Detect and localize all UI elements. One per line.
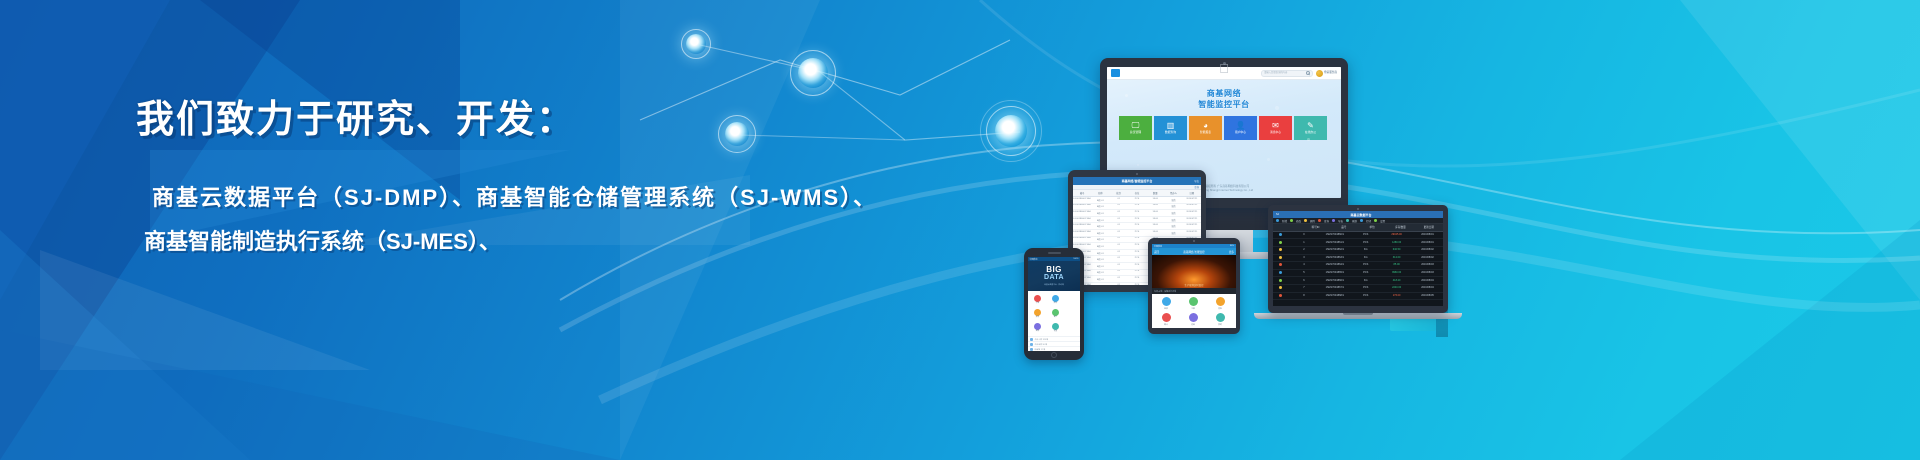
table-cell: 640.50 <box>1381 247 1412 254</box>
app-tile-data-query[interactable]: ▥ 数据查询 <box>1154 116 1187 140</box>
table-row[interactable]: 41SM17004864/1PCS85.002016/08/03 <box>1273 262 1443 270</box>
tablet-small-icon-grid: 监控工单质检统计设备我的 <box>1152 294 1236 328</box>
status-dot-icon <box>1273 285 1288 292</box>
bullet-icon <box>1030 343 1033 346</box>
network-node <box>686 34 706 54</box>
table-cell: 1 <box>1288 239 1319 246</box>
table-cell: PCS <box>1128 210 1146 216</box>
bar-chart-icon: ▥ <box>1167 122 1175 130</box>
status-dot-icon <box>1273 270 1288 277</box>
phone-grid-item[interactable]: 报表 <box>1029 307 1046 320</box>
app-title-line2: 智能监控平台 <box>1117 99 1331 111</box>
table-cell: 01 <box>1110 217 1128 223</box>
table-row[interactable]: 31SM17004863/1KG312.002016/08/02 <box>1273 255 1443 263</box>
phone-mockup: 中国移动 100% BIG DATA 商基云数据平台 · 移动端 订单库存报表客… <box>1024 248 1084 360</box>
table-cell: 01 <box>1110 210 1128 216</box>
table-cell: 2016/07/21 <box>1183 197 1201 203</box>
table-cell: 张伟 <box>1164 223 1182 229</box>
table-cell: 2016/07/21 <box>1183 210 1201 216</box>
table-cell: PCS <box>1128 204 1146 210</box>
toolbar-label[interactable]: 导出 <box>1338 219 1343 223</box>
app-label: 报表 <box>1036 316 1039 318</box>
table-cell: 01 <box>1110 223 1128 229</box>
table-cell: 1SM17004867/1 <box>1319 285 1350 292</box>
account-badge[interactable]: 尊荣服务商 <box>1316 70 1337 77</box>
table-row[interactable]: SJ-00186001 WH01A区-0101PCS18.00张伟2016/07… <box>1073 197 1201 204</box>
table-cell: 2016/07/21 <box>1183 223 1201 229</box>
table-cell: A区-01 <box>1091 197 1109 203</box>
phone-bezel: 中国移动 100% BIG DATA 商基云数据平台 · 移动端 订单库存报表客… <box>1024 248 1084 360</box>
laptop-table-header: 料号ID 品号 单位 库存数量 更新日期 <box>1273 224 1443 232</box>
app-label: 设置 <box>1054 330 1057 332</box>
hero-banner: 我们致力于研究、开发： 商基云数据平台（SJ-DMP）、商基智能仓储管理系统（S… <box>0 0 1920 460</box>
app-label: 订单 <box>1036 302 1039 304</box>
table-cell: 张伟 <box>1164 230 1182 236</box>
table-cell: PCS <box>1350 293 1381 300</box>
network-node-ring <box>790 50 836 96</box>
table-cell: 01 <box>1110 197 1128 203</box>
table-row[interactable]: SJ-00186001 WH01A区-0101PCS18.00张伟2016/07… <box>1073 204 1201 211</box>
table-row[interactable]: 71SM17004867/1PCS2240.002016/08/04 <box>1273 285 1443 293</box>
hero-caption: 商基云数据平台 · 移动端 <box>1044 283 1064 286</box>
app-label: 设备 <box>1191 323 1195 326</box>
column-header: 品号 <box>1330 224 1358 231</box>
column-header: 编号 <box>1073 190 1091 196</box>
table-cell: A区-01 <box>1091 210 1109 216</box>
table-cell: 01 <box>1110 243 1128 249</box>
app-label: 统计 <box>1164 323 1168 326</box>
column-header: 数量 <box>1146 190 1164 196</box>
table-cell: 176.00 <box>1381 293 1412 300</box>
app-tile-online-office[interactable]: ✎ 在线办公 <box>1294 116 1327 140</box>
table-cell: 2016/07/21 <box>1183 230 1201 236</box>
table-cell: 18.00 <box>1146 230 1164 236</box>
table-cell: PCS <box>1128 230 1146 236</box>
table-cell: 85.00 <box>1381 262 1412 269</box>
table-cell: 1SM17004865/1 <box>1319 270 1350 277</box>
app-icon <box>1162 313 1171 322</box>
phone-grid-item[interactable]: 库存 <box>1047 293 1064 306</box>
table-cell: 1SM17004866/1 <box>1319 277 1350 284</box>
tablet-app-header: 商基网络 智能监控平台 导出 <box>1073 177 1201 185</box>
network-node <box>798 58 828 88</box>
background-facet <box>0 230 250 460</box>
phone-grid-item[interactable]: 采购 <box>1029 321 1046 334</box>
table-cell: 01 <box>1110 263 1128 269</box>
column-header: 单位 <box>1358 224 1386 231</box>
table-cell: 张伟 <box>1164 204 1182 210</box>
table-cell: 8 <box>1288 293 1319 300</box>
toolbar-label[interactable]: 刷新 <box>1352 219 1357 223</box>
table-row[interactable]: SJ-00186001 WH01A区-0101PCS18.00张伟2016/07… <box>1073 223 1201 230</box>
table-cell: 2016/08/02 <box>1412 255 1443 262</box>
toolbar-icon[interactable] <box>1276 219 1279 222</box>
table-cell: 张伟 <box>1164 217 1182 223</box>
phone-grid-item[interactable]: 客户 <box>1047 307 1064 320</box>
battery-label: 86% <box>1230 245 1234 247</box>
table-cell: A区-01 <box>1091 230 1109 236</box>
table-cell: SJ-00186001 WH01 <box>1073 217 1091 223</box>
table-cell: 9960.00 <box>1381 270 1412 277</box>
background-facet <box>1680 0 1920 300</box>
tablet-small-mockup: 中国移动 86% 返回 商基网络 智能监控 更多 生产现场实时监控 车间 A 线… <box>1148 238 1240 334</box>
table-row[interactable]: SJ-00186001 WH01A区-0101PCS18.00张伟2016/07… <box>1073 210 1201 217</box>
table-cell: PCS <box>1128 283 1146 285</box>
table-cell: PCS <box>1350 232 1381 239</box>
sub-caption: 车间 A 线 · 设备运行正常 <box>1154 290 1176 293</box>
sj-logo-icon <box>1111 69 1120 77</box>
table-cell: 312.00 <box>1381 255 1412 262</box>
device-mockup-cluster: 请输入您想查询的内容 尊荣服务商 <box>1010 40 1480 360</box>
status-dot-icon <box>1273 277 1288 284</box>
background-facet <box>1620 220 1920 460</box>
table-cell: PCS <box>1128 263 1146 269</box>
table-cell: PCS <box>1128 243 1146 249</box>
app-tile-total-management[interactable]: 🖵 总览管理 <box>1119 116 1152 140</box>
laptop-table-body: 01SM17004860/1PCS29025.002016/08/0111SM1… <box>1273 232 1443 300</box>
phone-grid-item[interactable]: 设置 <box>1047 321 1064 334</box>
app-header-right: 请输入您想查询的内容 尊荣服务商 <box>1261 70 1337 77</box>
mail-icon: ✉ <box>1272 122 1279 130</box>
table-cell: PCS <box>1128 270 1146 276</box>
laptop-notch <box>1343 313 1373 315</box>
table-cell: 01 <box>1110 250 1128 256</box>
app-icon <box>1034 323 1041 330</box>
table-cell: KG <box>1350 277 1381 284</box>
table-cell: PCS <box>1350 262 1381 269</box>
app-tile-user-center[interactable]: 👤 用户中心 <box>1224 116 1257 140</box>
table-cell: 18.00 <box>1146 204 1164 210</box>
edit-icon: ✎ <box>1307 122 1314 130</box>
product-line-1: 商基云数据平台（SJ-DMP）、商基智能仓储管理系统（SJ-WMS）、 <box>140 176 877 220</box>
table-cell: 418.20 <box>1381 277 1412 284</box>
laptop-base <box>1254 313 1462 319</box>
app-icon <box>1034 309 1041 316</box>
table-cell: SJ-00186001 WH01 <box>1073 197 1091 203</box>
background-facet <box>0 330 620 460</box>
tablet-grid-item[interactable]: 质检 <box>1207 296 1233 311</box>
tablet-grid-item[interactable]: 工单 <box>1180 296 1206 311</box>
network-node-ring <box>681 29 711 59</box>
table-cell: 2016/08/01 <box>1412 232 1443 239</box>
app-icon <box>1216 313 1225 322</box>
table-row[interactable]: 61SM17004866/1KG418.202016/08/04 <box>1273 277 1443 285</box>
laptop-app-title: 商基云数据平台 <box>1279 213 1443 217</box>
table-cell: A区-01 <box>1091 204 1109 210</box>
toolbar-icon[interactable] <box>1374 219 1377 222</box>
app-label: 工单 <box>1191 307 1195 310</box>
camera-icon <box>1136 173 1138 175</box>
table-cell: 2016/08/05 <box>1412 293 1443 300</box>
table-row[interactable]: 11SM17004861/1PCS1280.002016/08/01 <box>1273 239 1443 247</box>
column-header: 日期 <box>1183 190 1201 196</box>
table-cell: PCS <box>1350 239 1381 246</box>
table-cell: KG <box>1350 247 1381 254</box>
table-cell: 张伟 <box>1164 197 1182 203</box>
table-row[interactable]: 81SM17004868/1PCS176.002016/08/05 <box>1273 293 1443 301</box>
tablet-grid-item[interactable]: 监控 <box>1153 296 1179 311</box>
camera-icon <box>1193 240 1195 242</box>
list-item-label: 今日出库 96 单 <box>1035 343 1048 346</box>
table-cell: 2016/08/01 <box>1412 239 1443 246</box>
tile-label: 数据查询 <box>1165 131 1176 134</box>
table-cell: 张伟 <box>1164 210 1182 216</box>
toolbar-label[interactable]: 打印 <box>1366 219 1371 223</box>
tablet-app-title: 商基网络 智能监控平台 <box>1122 179 1153 183</box>
speaker-icon <box>1048 252 1061 254</box>
column-header: 批次 <box>1110 190 1128 196</box>
table-cell: 01 <box>1110 270 1128 276</box>
phone-list: 今日入库 128 单今日出库 96 单待审核 12 单库存预警 3 项 <box>1028 336 1080 351</box>
toolbar-icon[interactable] <box>1360 219 1363 222</box>
table-cell: 1SM17004862/1 <box>1319 247 1350 254</box>
table-cell: 2016/07/21 <box>1183 217 1201 223</box>
carrier-label: 中国移动 <box>1030 258 1038 261</box>
column-header: 料号ID <box>1301 224 1329 231</box>
status-dot-icon <box>1273 247 1288 254</box>
table-cell: PCS <box>1350 285 1381 292</box>
app-icon <box>1189 313 1198 322</box>
app-icon <box>1034 295 1041 302</box>
table-cell: SJ-00186001 WH01 <box>1073 223 1091 229</box>
bullet-icon <box>1030 338 1033 341</box>
tablet-grid-item[interactable]: 统计 <box>1153 312 1179 327</box>
table-cell: 1SM17004860/1 <box>1319 232 1350 239</box>
table-cell: PCS <box>1350 270 1381 277</box>
toolbar-icon[interactable] <box>1346 219 1349 222</box>
table-row[interactable]: 21SM17004862/1KG640.502016/08/02 <box>1273 247 1443 255</box>
app-icon <box>1052 309 1059 316</box>
hero-line-1: BIG <box>1046 266 1061 274</box>
table-cell: 4 <box>1288 262 1319 269</box>
network-node-ring <box>718 115 756 153</box>
table-row[interactable]: 01SM17004860/1PCS29025.002016/08/01 <box>1273 232 1443 240</box>
table-cell: SJ-00186001 WH01 <box>1073 230 1091 236</box>
table-cell: PCS <box>1128 197 1146 203</box>
app-label: 客户 <box>1054 316 1057 318</box>
apple-logo-icon:  <box>1219 62 1229 75</box>
table-row[interactable]: SJ-00186001 WH01A区-0101PCS18.00张伟2016/07… <box>1073 230 1201 237</box>
table-cell: 1280.00 <box>1381 239 1412 246</box>
table-cell: 01 <box>1110 276 1128 282</box>
tablet-grid-item[interactable]: 我的 <box>1207 312 1233 327</box>
app-tile-message-center[interactable]: ✉ 消息中心 <box>1259 116 1292 140</box>
toolbar-label[interactable]: 修改 <box>1296 219 1301 223</box>
table-cell: 7 <box>1288 285 1319 292</box>
status-dot-icon <box>1273 232 1288 239</box>
tablet-small-bezel: 中国移动 86% 返回 商基网络 智能监控 更多 生产现场实时监控 车间 A 线… <box>1148 238 1240 334</box>
home-button-icon[interactable] <box>1051 352 1057 358</box>
tablet-grid-item[interactable]: 设备 <box>1180 312 1206 327</box>
app-tile-smart-report[interactable]: ◕ 智能报表 <box>1189 116 1222 140</box>
list-item-label: 今日入库 128 单 <box>1035 338 1049 341</box>
table-cell: PCS <box>1128 217 1146 223</box>
table-cell: SJ-00186001 WH01 <box>1073 210 1091 216</box>
column-header: 更新日期 <box>1415 224 1443 231</box>
tablet-query-button[interactable]: 查询 <box>1194 185 1199 189</box>
app-label: 监控 <box>1164 307 1168 310</box>
monitor-icon: 🖵 <box>1132 122 1140 130</box>
camera-icon <box>1357 208 1359 210</box>
product-line-2: 商基智能制造执行系统（SJ-MES）、 <box>140 220 877 264</box>
battery-label: 100% <box>1073 258 1078 260</box>
toolbar-icon[interactable] <box>1332 219 1335 222</box>
table-cell: SJ-00186001 WH01 <box>1073 204 1091 210</box>
table-cell: 2240.00 <box>1381 285 1412 292</box>
laptop-mockup: SJ 商基云数据平台 新增修改删除查询导出刷新打印设置 料号ID 品号 单位 库… <box>1268 205 1448 319</box>
laptop-screen: SJ 商基云数据平台 新增修改删除查询导出刷新打印设置 料号ID 品号 单位 库… <box>1273 211 1443 306</box>
table-cell: 1SM17004864/1 <box>1319 262 1350 269</box>
phone-grid-item[interactable]: 订单 <box>1029 293 1046 306</box>
tile-label: 用户中心 <box>1235 131 1246 134</box>
toolbar-icon[interactable] <box>1304 219 1307 222</box>
background-facet <box>40 250 370 370</box>
status-dot-icon <box>1273 255 1288 262</box>
status-dot-icon <box>1273 262 1288 269</box>
toolbar-icon[interactable] <box>1290 219 1293 222</box>
table-cell: A区-01 <box>1091 217 1109 223</box>
status-dot-icon <box>1273 293 1288 300</box>
table-cell: 2016/08/02 <box>1412 247 1443 254</box>
table-cell: A区-01 <box>1091 270 1109 276</box>
hero-caption: 生产现场实时监控 <box>1152 283 1236 287</box>
table-cell: 1SM17004868/1 <box>1319 293 1350 300</box>
table-cell: 18.00 <box>1146 197 1164 203</box>
app-label: 我的 <box>1218 323 1222 326</box>
app-label: 质检 <box>1218 307 1222 310</box>
hero-line-2: DATA <box>1044 274 1064 282</box>
tablet-small-screen: 中国移动 86% 返回 商基网络 智能监控 更多 生产现场实时监控 车间 A 线… <box>1152 244 1236 328</box>
table-cell: 2016/08/03 <box>1412 262 1443 269</box>
table-cell: 01 <box>1110 237 1128 243</box>
table-cell: 29025.00 <box>1381 232 1412 239</box>
table-cell: PCS <box>1128 223 1146 229</box>
table-cell: 6 <box>1288 277 1319 284</box>
bullet-icon <box>1030 348 1033 351</box>
avatar <box>1316 70 1323 77</box>
table-cell: PCS <box>1128 276 1146 282</box>
column-header: 库存数量 <box>1386 224 1414 231</box>
phone-hero: BIG DATA 商基云数据平台 · 移动端 <box>1028 261 1080 291</box>
toolbar-label[interactable]: 查询 <box>1324 219 1329 223</box>
table-cell: A区-01 <box>1091 237 1109 243</box>
search-input[interactable]: 请输入您想查询的内容 <box>1261 70 1313 77</box>
laptop-bezel: SJ 商基云数据平台 新增修改删除查询导出刷新打印设置 料号ID 品号 单位 库… <box>1268 205 1448 313</box>
toolbar-label[interactable]: 删除 <box>1310 219 1315 223</box>
table-cell: 2016/08/03 <box>1412 270 1443 277</box>
navbar-title: 商基网络 智能监控 <box>1183 250 1204 254</box>
app-icon <box>1162 297 1171 306</box>
search-icon[interactable] <box>1306 71 1310 75</box>
app-label: 库存 <box>1054 302 1057 304</box>
phone-screen: 中国移动 100% BIG DATA 商基云数据平台 · 移动端 订单库存报表客… <box>1028 257 1080 351</box>
table-cell: 2 <box>1288 247 1319 254</box>
more-button[interactable]: 更多 <box>1229 250 1234 254</box>
column-header: 仓位 <box>1128 190 1146 196</box>
app-tile-grid: 🖵 总览管理 ▥ 数据查询 ◕ 智能报表 <box>1117 116 1331 140</box>
column-header <box>1273 224 1301 231</box>
page-title: 我们致力于研究、开发： <box>136 88 576 143</box>
table-row[interactable]: 51SM17004865/1PCS9960.002016/08/03 <box>1273 270 1443 278</box>
table-cell: PCS <box>1128 256 1146 262</box>
tile-label: 消息中心 <box>1270 131 1281 134</box>
account-label: 尊荣服务商 <box>1324 72 1337 75</box>
toolbar-label[interactable]: 新增 <box>1282 219 1287 223</box>
table-cell: 18.00 <box>1146 223 1164 229</box>
search-placeholder: 请输入您想查询的内容 <box>1264 72 1287 74</box>
table-cell: 1SM17004863/1 <box>1319 255 1350 262</box>
table-cell: SJ-00186001 WH01 <box>1073 237 1091 243</box>
app-title-line1: 商基网络 <box>1117 89 1331 99</box>
toolbar-icon[interactable] <box>1318 219 1321 222</box>
app-label: 采购 <box>1036 330 1039 332</box>
laptop-titlebar: SJ 商基云数据平台 <box>1273 211 1443 218</box>
table-cell: A区-01 <box>1091 250 1109 256</box>
list-item-label: 待审核 12 单 <box>1035 348 1046 351</box>
column-header: 经办人 <box>1164 190 1182 196</box>
table-row[interactable]: SJ-00186001 WH01A区-0101PCS18.00张伟2016/07… <box>1073 217 1201 224</box>
table-cell: 5 <box>1288 270 1319 277</box>
app-icon <box>1052 323 1059 330</box>
table-cell: PCS <box>1128 250 1146 256</box>
table-cell: 2016/08/04 <box>1412 285 1443 292</box>
pie-chart-icon: ◕ <box>1203 122 1208 130</box>
table-cell: A区-01 <box>1091 243 1109 249</box>
table-cell: 2016/08/04 <box>1412 277 1443 284</box>
tablet-small-hero: 生产现场实时监控 <box>1152 255 1236 288</box>
table-cell: 0 <box>1288 232 1319 239</box>
tablet-small-navbar: 返回 商基网络 智能监控 更多 <box>1152 248 1236 255</box>
app-icon <box>1052 295 1059 302</box>
tile-label: 智能报表 <box>1200 131 1211 134</box>
table-cell: 01 <box>1110 230 1128 236</box>
table-cell: A区-01 <box>1091 223 1109 229</box>
tile-label: 总览管理 <box>1130 131 1141 134</box>
table-cell: A区-01 <box>1091 276 1109 282</box>
table-cell: PCS <box>1128 237 1146 243</box>
tablet-export-button[interactable]: 导出 <box>1194 179 1199 183</box>
network-node <box>725 122 749 146</box>
table-cell: 18.00 <box>1146 210 1164 216</box>
table-cell: 18.00 <box>1146 217 1164 223</box>
table-cell: 01 <box>1110 204 1128 210</box>
table-cell: A区-01 <box>1091 283 1109 285</box>
column-header: 名称 <box>1091 190 1109 196</box>
table-cell: 01 <box>1110 256 1128 262</box>
table-cell: A区-01 <box>1091 256 1109 262</box>
back-button[interactable]: 返回 <box>1154 250 1159 254</box>
table-cell: A区-01 <box>1091 263 1109 269</box>
app-icon <box>1216 297 1225 306</box>
tile-label: 在线办公 <box>1305 131 1316 134</box>
table-cell: 1SM17004861/1 <box>1319 239 1350 246</box>
user-icon: 👤 <box>1236 122 1246 130</box>
table-cell: KG <box>1350 255 1381 262</box>
banner-body-text: 商基云数据平台（SJ-DMP）、商基智能仓储管理系统（SJ-WMS）、 商基智能… <box>140 176 877 264</box>
tablet-table-header: 编号 名称 批次 仓位 数量 经办人 日期 <box>1073 190 1201 197</box>
app-icon <box>1189 297 1198 306</box>
phone-icon-grid: 订单库存报表客户采购设置 <box>1028 291 1080 336</box>
table-cell: 3 <box>1288 255 1319 262</box>
table-cell: 01 <box>1110 283 1128 285</box>
toolbar-label[interactable]: 设置 <box>1380 219 1385 223</box>
table-cell: 2016/07/21 <box>1183 204 1201 210</box>
status-dot-icon <box>1273 239 1288 246</box>
